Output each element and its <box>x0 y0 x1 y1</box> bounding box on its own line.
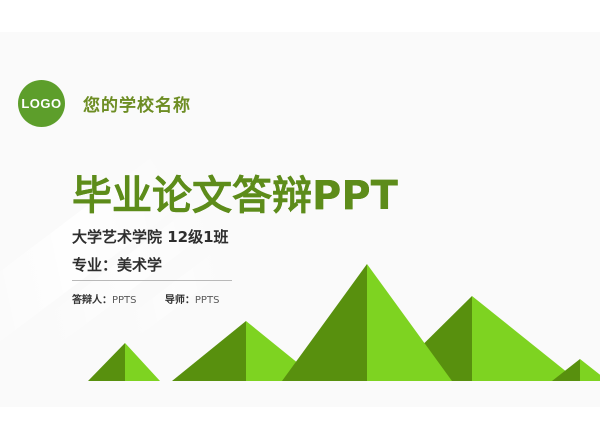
slide-canvas: LOGO 您的学校名称 毕业论文答辩PPT 大学艺术学院 12级1班 专业：美术… <box>0 32 600 407</box>
page-title: 毕业论文答辩PPT <box>72 175 398 218</box>
peak-small-left-light <box>125 343 160 381</box>
presenter-label: 答辩人： <box>72 295 112 306</box>
peak-small-right-light <box>580 359 600 381</box>
presentation-slide: LOGO 您的学校名称 毕业论文答辩PPT 大学艺术学院 12级1班 专业：美术… <box>0 0 600 424</box>
peak-small-left-dark <box>88 343 125 381</box>
advisor-value: PPTS <box>195 295 220 306</box>
major-label: 专业：美术学 <box>72 254 398 275</box>
peak-mid-left-dark <box>172 321 246 381</box>
credits-line: 答辩人：PPTS 导师：PPTS <box>72 291 398 306</box>
advisor-label: 导师： <box>165 295 195 306</box>
presenter-value: PPTS <box>112 295 137 306</box>
title-divider <box>72 280 232 281</box>
department-class-label: 大学艺术学院 12级1班 <box>72 226 398 247</box>
slide-header: LOGO 您的学校名称 <box>18 80 191 127</box>
school-name-label: 您的学校名称 <box>83 91 191 116</box>
peak-right-light <box>472 296 578 381</box>
title-block: 毕业论文答辩PPT 大学艺术学院 12级1班 专业：美术学 答辩人：PPTS 导… <box>72 175 398 306</box>
logo-badge[interactable]: LOGO <box>18 80 65 127</box>
